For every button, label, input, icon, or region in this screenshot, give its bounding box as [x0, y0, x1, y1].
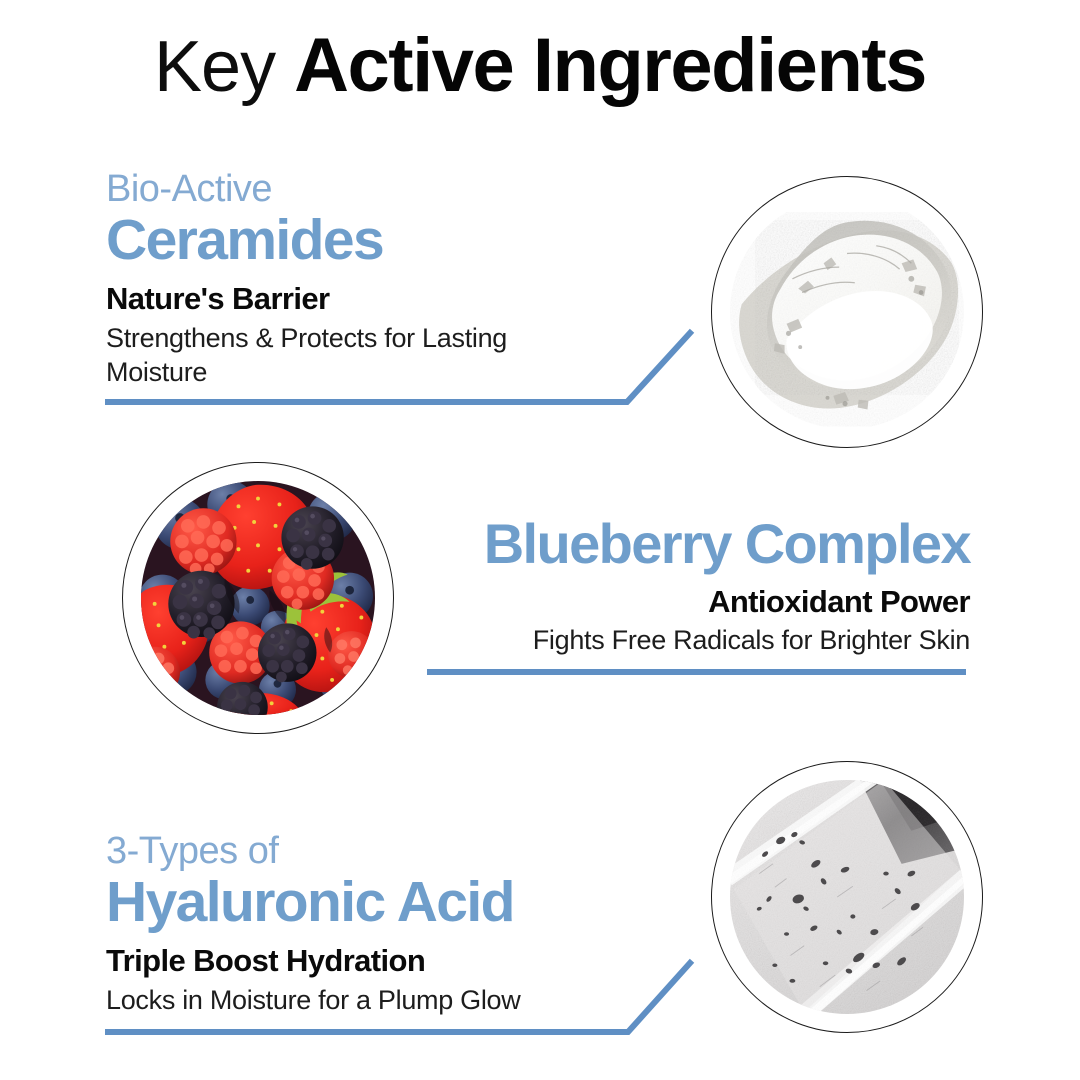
ceramide-powder-image — [730, 195, 964, 429]
hyaluronic-gel-photo — [711, 761, 983, 1033]
ceramide-powder-photo — [711, 176, 983, 448]
section-blueberry: Blueberry Complex Antioxidant Power Figh… — [360, 512, 970, 658]
hyaluronic-body: Locks in Moisture for a Plump Glow — [106, 983, 666, 1018]
blueberry-headline: Blueberry Complex — [360, 514, 970, 573]
page-title-bold: Active Ingredients — [294, 23, 926, 108]
ceramides-subhead: Nature's Barrier — [106, 282, 666, 316]
ingredients-infographic: Key Active Ingredients Bio-Active Cerami… — [0, 0, 1080, 1080]
hyaluronic-eyebrow: 3-Types of — [106, 832, 666, 870]
ceramides-headline: Ceramides — [106, 210, 666, 270]
hyaluronic-headline: Hyaluronic Acid — [106, 872, 666, 932]
page-title-light: Key — [154, 27, 294, 107]
section-ceramides: Bio-Active Ceramides Nature's Barrier St… — [106, 170, 666, 390]
mixed-berries-image — [141, 481, 375, 715]
blueberry-subhead: Antioxidant Power — [360, 585, 970, 619]
hyaluronic-gel-image — [730, 780, 964, 1014]
hyaluronic-subhead: Triple Boost Hydration — [106, 944, 666, 978]
page-title: Key Active Ingredients — [0, 28, 1080, 104]
ceramides-eyebrow: Bio-Active — [106, 170, 666, 208]
blueberry-body: Fights Free Radicals for Brighter Skin — [360, 623, 970, 658]
section-hyaluronic: 3-Types of Hyaluronic Acid Triple Boost … — [106, 832, 666, 1017]
ceramides-body: Strengthens & Protects for Lasting Moist… — [106, 321, 606, 390]
mixed-berries-photo — [122, 462, 394, 734]
